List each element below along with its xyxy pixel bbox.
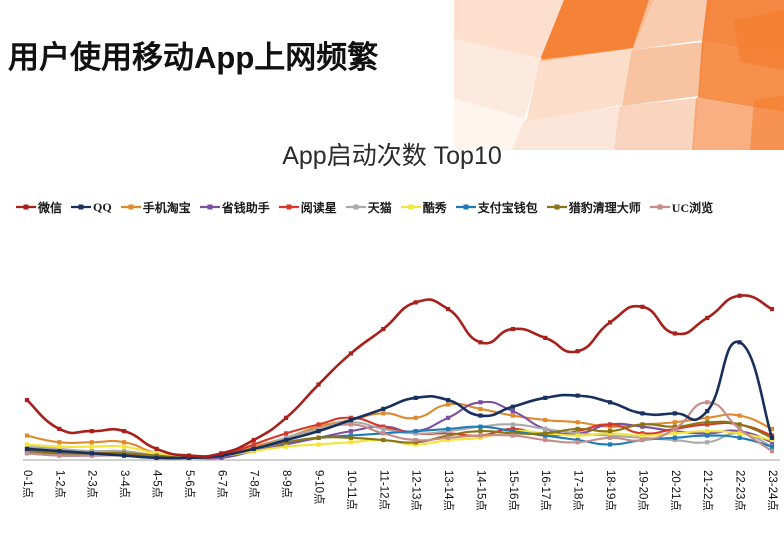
data-point-marker xyxy=(608,400,612,404)
data-point-marker xyxy=(90,429,94,433)
data-point-marker xyxy=(705,409,709,413)
data-point-marker xyxy=(478,425,482,429)
data-point-marker xyxy=(640,411,644,415)
data-point-marker xyxy=(673,331,677,335)
data-point-marker xyxy=(25,447,29,451)
data-point-marker xyxy=(446,416,450,420)
line-marker-icon xyxy=(16,202,36,212)
x-axis-tick-label: 23-24点 xyxy=(766,470,779,511)
data-point-marker xyxy=(543,431,547,435)
data-point-marker xyxy=(640,438,644,442)
legend-label: 猎豹清理大师 xyxy=(569,199,641,216)
x-axis-tick-label: 5-6点 xyxy=(183,470,196,498)
data-point-marker xyxy=(543,438,547,442)
data-point-marker xyxy=(543,336,547,340)
data-point-marker xyxy=(57,453,61,457)
line-marker-icon xyxy=(401,202,421,212)
data-point-marker xyxy=(381,411,385,415)
data-point-marker xyxy=(738,427,742,431)
data-point-marker xyxy=(738,436,742,440)
data-point-marker xyxy=(25,451,29,455)
x-axis-tick-label: 3-4点 xyxy=(118,470,131,498)
x-axis-tick-label: 7-8点 xyxy=(248,470,261,498)
data-point-marker xyxy=(673,436,677,440)
data-point-marker xyxy=(381,427,385,431)
data-point-marker xyxy=(316,422,320,426)
data-point-marker xyxy=(414,416,418,420)
data-point-marker xyxy=(511,409,515,413)
data-point-marker xyxy=(543,418,547,422)
data-point-marker xyxy=(576,440,580,444)
data-point-marker xyxy=(608,442,612,446)
data-point-marker xyxy=(349,440,353,444)
data-point-marker xyxy=(705,316,709,320)
x-axis-tick-label: 20-21点 xyxy=(669,470,682,511)
data-point-marker xyxy=(349,429,353,433)
data-point-marker xyxy=(446,402,450,406)
data-point-marker xyxy=(608,436,612,440)
data-point-marker xyxy=(673,431,677,435)
data-point-marker xyxy=(381,407,385,411)
data-point-marker xyxy=(284,416,288,420)
data-point-marker xyxy=(640,433,644,437)
data-point-marker xyxy=(381,431,385,435)
line-marker-icon xyxy=(121,202,141,212)
data-point-marker xyxy=(57,449,61,453)
data-point-marker xyxy=(543,427,547,431)
data-point-marker xyxy=(705,416,709,420)
data-point-marker xyxy=(414,438,418,442)
data-point-marker xyxy=(511,405,515,409)
data-point-marker xyxy=(673,420,677,424)
legend-item-3[interactable]: 手机淘宝 xyxy=(121,199,191,216)
data-point-marker xyxy=(122,453,126,457)
data-point-marker xyxy=(57,427,61,431)
data-point-marker xyxy=(219,451,223,455)
data-point-marker xyxy=(705,429,709,433)
data-point-marker xyxy=(252,438,256,442)
line-marker-icon xyxy=(279,202,299,212)
data-point-marker xyxy=(122,440,126,444)
line-marker-icon xyxy=(547,202,567,212)
data-point-marker xyxy=(478,414,482,418)
data-point-marker xyxy=(608,429,612,433)
legend-item-9[interactable]: 猎豹清理大师 xyxy=(547,199,641,216)
data-point-marker xyxy=(640,305,644,309)
data-point-marker xyxy=(511,422,515,426)
legend-item-1[interactable]: 微信 xyxy=(16,199,62,216)
data-point-marker xyxy=(25,433,29,437)
data-point-marker xyxy=(57,445,61,449)
data-point-marker xyxy=(446,398,450,402)
data-point-marker xyxy=(770,307,774,311)
data-point-marker xyxy=(608,422,612,426)
data-point-marker xyxy=(414,429,418,433)
data-point-marker xyxy=(25,398,29,402)
data-point-marker xyxy=(252,447,256,451)
data-point-marker xyxy=(705,400,709,404)
data-point-marker xyxy=(349,436,353,440)
data-point-marker xyxy=(316,436,320,440)
x-axis-tick-label: 19-20点 xyxy=(636,470,649,511)
legend-label: 手机淘宝 xyxy=(143,199,191,216)
data-point-marker xyxy=(738,414,742,418)
data-point-marker xyxy=(122,429,126,433)
data-point-marker xyxy=(511,414,515,418)
data-point-marker xyxy=(478,433,482,437)
data-point-marker xyxy=(673,427,677,431)
x-axis-tick-label: 11-12点 xyxy=(377,470,390,510)
x-axis-tick-label: 2-3点 xyxy=(86,470,99,498)
data-point-marker xyxy=(90,451,94,455)
data-point-marker xyxy=(316,382,320,386)
x-axis-tick-label: 9-10点 xyxy=(312,470,325,505)
legend-item-5[interactable]: 阅读星 xyxy=(279,199,337,216)
data-point-marker xyxy=(705,420,709,424)
x-axis-tick-label: 4-5点 xyxy=(151,470,164,498)
data-point-marker xyxy=(576,349,580,353)
data-point-marker xyxy=(478,407,482,411)
legend-label: 天猫 xyxy=(368,199,392,216)
data-point-marker xyxy=(381,438,385,442)
data-point-marker xyxy=(511,433,515,437)
data-point-marker xyxy=(90,445,94,449)
legend-label: 省钱助手 xyxy=(222,199,270,216)
line-marker-icon xyxy=(456,202,476,212)
data-point-marker xyxy=(738,340,742,344)
data-point-marker xyxy=(478,429,482,433)
x-axis-tick-label: 21-22点 xyxy=(701,470,714,511)
data-point-marker xyxy=(770,445,774,449)
x-axis-tick-label: 1-2点 xyxy=(53,470,66,498)
data-point-marker xyxy=(446,427,450,431)
line-chart-plot: 0-1点1-2点2-3点3-4点4-5点5-6点6-7点7-8点8-9点9-10… xyxy=(0,222,784,534)
data-point-marker xyxy=(446,307,450,311)
data-point-marker xyxy=(446,436,450,440)
legend-label: UC浏览 xyxy=(672,199,713,216)
data-point-marker xyxy=(284,445,288,449)
series-line xyxy=(27,342,772,458)
line-marker-icon xyxy=(71,202,91,212)
data-point-marker xyxy=(414,396,418,400)
chart-title: App启动次数 Top10 xyxy=(0,136,784,172)
x-axis-tick-label: 14-15点 xyxy=(474,470,487,511)
x-axis-tick-label: 12-13点 xyxy=(410,470,423,511)
chart-legend: 微信QQ手机淘宝省钱助手阅读星天猫酷秀支付宝钱包猎豹清理大师UC浏览 xyxy=(16,198,784,216)
slide-title: 用户使用移动App上网频繁 xyxy=(8,32,378,77)
data-point-marker xyxy=(90,440,94,444)
data-point-marker xyxy=(673,411,677,415)
legend-item-2[interactable]: QQ xyxy=(71,200,112,215)
data-point-marker xyxy=(705,433,709,437)
data-point-marker xyxy=(154,447,158,451)
data-point-marker xyxy=(543,396,547,400)
data-point-marker xyxy=(705,440,709,444)
data-point-marker xyxy=(770,449,774,453)
line-marker-icon xyxy=(200,202,220,212)
data-point-marker xyxy=(187,453,191,457)
data-point-marker xyxy=(316,429,320,433)
data-point-marker xyxy=(738,422,742,426)
legend-item-8[interactable]: 支付宝钱包 xyxy=(456,199,538,216)
data-point-marker xyxy=(349,422,353,426)
data-point-marker xyxy=(738,431,742,435)
decorative-polygon-corner xyxy=(454,0,784,150)
line-marker-icon xyxy=(346,202,366,212)
data-point-marker xyxy=(252,442,256,446)
x-axis-tick-label: 17-18点 xyxy=(572,470,585,511)
line-marker-icon xyxy=(650,202,670,212)
data-point-marker xyxy=(576,427,580,431)
x-axis-tick-label: 15-16点 xyxy=(507,470,520,511)
data-point-marker xyxy=(640,422,644,426)
legend-label: 支付宝钱包 xyxy=(478,199,538,216)
x-axis-tick-label: 13-14点 xyxy=(442,470,455,511)
legend-label: QQ xyxy=(93,200,112,215)
legend-item-4[interactable]: 省钱助手 xyxy=(200,199,270,216)
data-point-marker xyxy=(478,340,482,344)
x-axis-tick-label: 8-9点 xyxy=(280,470,293,498)
data-point-marker xyxy=(284,438,288,442)
legend-item-10[interactable]: UC浏览 xyxy=(650,199,713,216)
data-point-marker xyxy=(576,394,580,398)
x-axis-tick-label: 16-17点 xyxy=(539,470,552,511)
legend-item-6[interactable]: 天猫 xyxy=(346,199,392,216)
data-point-marker xyxy=(576,420,580,424)
legend-item-7[interactable]: 酷秀 xyxy=(401,199,447,216)
data-point-marker xyxy=(154,456,158,460)
x-axis-tick-label: 22-23点 xyxy=(734,470,747,511)
data-point-marker xyxy=(511,327,515,331)
x-axis-tick-label: 6-7点 xyxy=(215,470,228,498)
data-point-marker xyxy=(770,436,774,440)
data-point-marker xyxy=(57,440,61,444)
data-point-marker xyxy=(478,400,482,404)
data-point-marker xyxy=(349,351,353,355)
data-point-marker xyxy=(25,442,29,446)
data-point-marker xyxy=(381,327,385,331)
data-point-marker xyxy=(316,442,320,446)
data-point-marker xyxy=(349,418,353,422)
x-axis-tick-label: 10-11点 xyxy=(345,470,358,510)
data-point-marker xyxy=(608,320,612,324)
legend-label: 微信 xyxy=(38,199,62,216)
x-axis-tick-label: 18-19点 xyxy=(604,470,617,511)
data-point-marker xyxy=(738,294,742,298)
series-line xyxy=(27,422,772,458)
data-point-marker xyxy=(414,300,418,304)
legend-label: 阅读星 xyxy=(301,199,337,216)
data-point-marker xyxy=(122,445,126,449)
x-axis-tick-label: 0-1点 xyxy=(21,470,34,498)
data-point-marker xyxy=(284,431,288,435)
data-point-marker xyxy=(576,433,580,437)
legend-label: 酷秀 xyxy=(423,199,447,216)
